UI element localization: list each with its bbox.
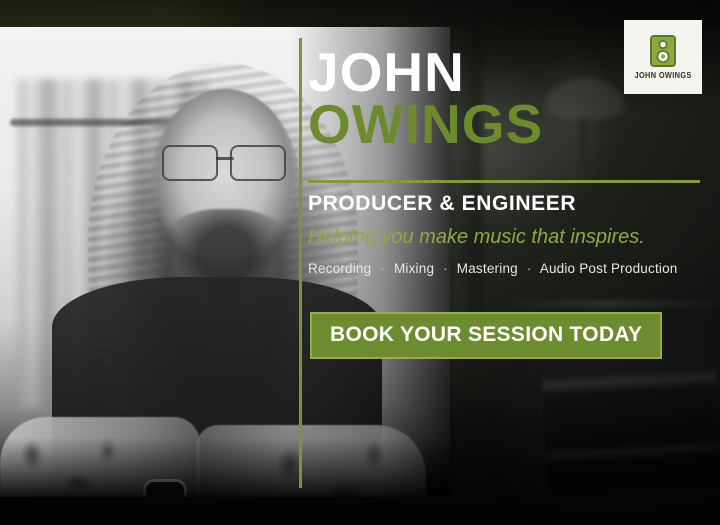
service-separator-2: · <box>438 261 453 276</box>
services-list: Recording · Mixing · Mastering · Audio P… <box>308 261 678 276</box>
speaker-cabinet-icon <box>650 35 676 67</box>
role-subtitle: PRODUCER & ENGINEER <box>308 192 576 216</box>
hero-banner: JOHN OWINGS PRODUCER & ENGINEER Helping … <box>0 0 720 525</box>
service-item-recording: Recording <box>308 261 371 276</box>
service-separator-3: · <box>522 261 537 276</box>
portrait-glasses-lens-left <box>162 145 218 181</box>
book-session-button[interactable]: BOOK YOUR SESSION TODAY <box>310 312 662 359</box>
portrait-glasses <box>160 145 288 179</box>
horizontal-rule <box>308 180 700 183</box>
logo-badge[interactable]: JOHN OWINGS <box>624 20 702 94</box>
service-separator-1: · <box>375 261 390 276</box>
vertical-divider <box>299 38 302 488</box>
service-item-mastering: Mastering <box>457 261 518 276</box>
service-item-audio-post-production: Audio Post Production <box>540 261 678 276</box>
tagline: Helping you make music that inspires. <box>308 226 645 249</box>
logo-wordmark: JOHN OWINGS <box>634 71 691 80</box>
portrait-glasses-lens-right <box>230 145 286 181</box>
name-last-line: OWINGS <box>308 98 708 150</box>
portrait-bottom-fade <box>0 437 450 497</box>
service-item-mixing: Mixing <box>394 261 434 276</box>
